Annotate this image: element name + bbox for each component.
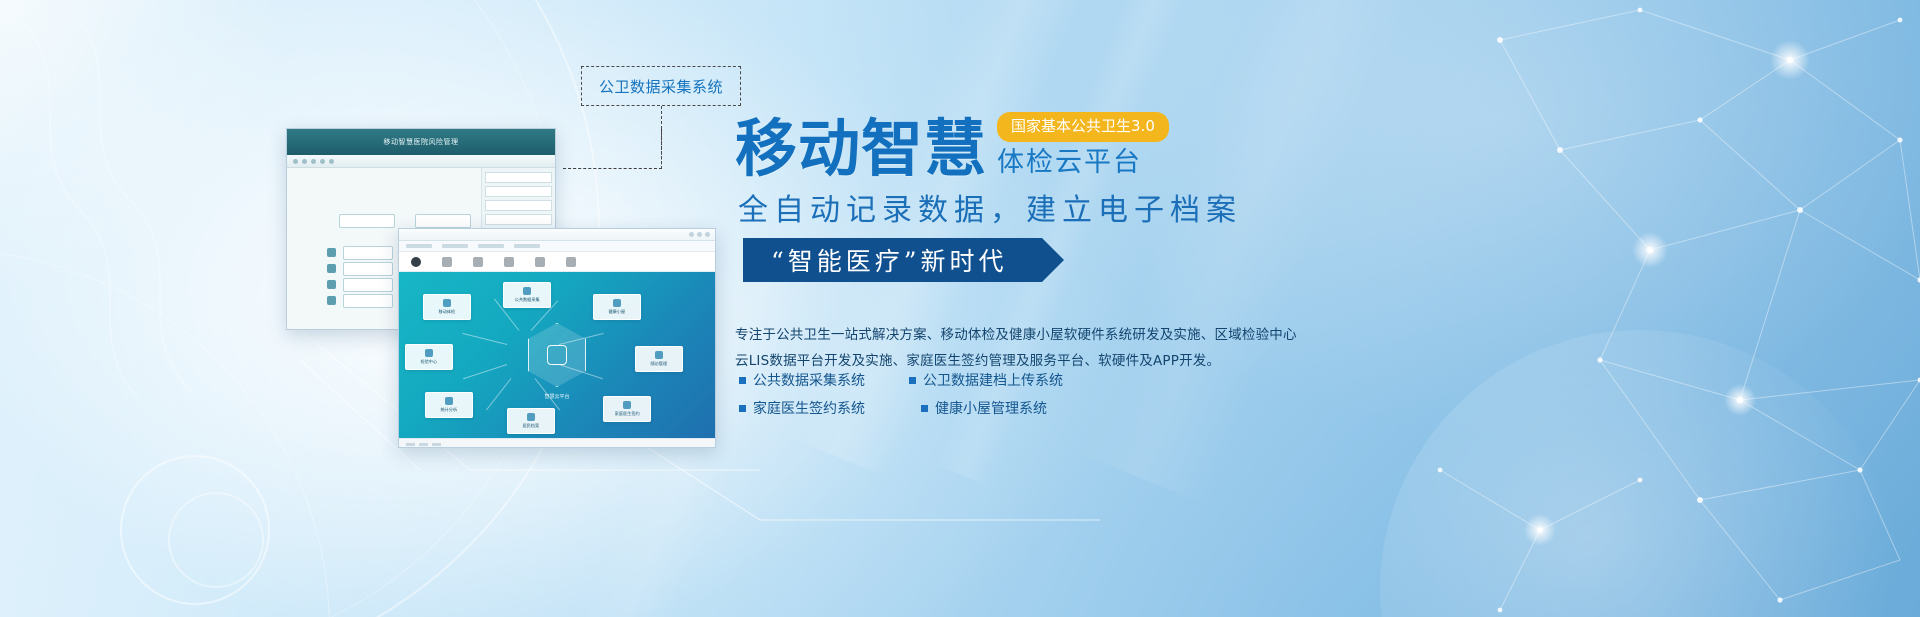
dashboard-hub: 智慧云平台 <box>528 323 586 387</box>
window-minimize-icon[interactable] <box>689 232 694 237</box>
status-badge: 国家基本公共卫生3.0 <box>997 112 1169 142</box>
product-screenshot-group: 移动智慧医院风险管理 <box>286 128 716 448</box>
back-window-node <box>343 246 393 260</box>
dashboard-card[interactable]: 健康小屋 <box>593 294 641 320</box>
arc-decoration-c <box>0 250 330 617</box>
list-item-label: 家庭医生签约系统 <box>753 398 865 418</box>
user-icon[interactable] <box>535 257 545 267</box>
list-item[interactable]: 健康小屋管理系统 <box>909 398 1063 418</box>
dashboard-card-label: 移动体检 <box>439 309 456 315</box>
dashboard-card-label: 家庭医生签约 <box>614 411 639 417</box>
bullet-square-icon <box>739 405 746 412</box>
side-panel-item[interactable] <box>485 172 552 183</box>
back-window-toolbar <box>287 155 555 168</box>
front-window-tabbar <box>399 241 715 252</box>
status-indicator <box>406 443 415 446</box>
hub-spoke <box>463 364 507 379</box>
list-icon[interactable] <box>504 257 514 267</box>
hexagon-inner-icon <box>547 345 567 365</box>
node-icon <box>327 280 336 289</box>
back-window-node <box>339 214 395 228</box>
dashboard-card-label: 居民档案 <box>523 423 540 429</box>
toolbar-dot-icon <box>329 159 334 164</box>
headline-subtitle: 体检云平台 <box>997 148 1169 178</box>
back-window-node <box>415 214 471 228</box>
front-window-tab[interactable] <box>514 244 540 248</box>
marketing-content: 移动智慧 国家基本公共卫生3.0 体检云平台 全自动记录数据，建立电子档案 “智… <box>735 0 1915 617</box>
back-window-node <box>343 262 393 276</box>
dashboard-card-label: 随访管理 <box>651 361 668 367</box>
gear-icon[interactable] <box>566 257 576 267</box>
list-item-label: 公共数据采集系统 <box>753 370 865 390</box>
callout-public-health-data-collection[interactable]: 公卫数据采集系统 <box>581 66 741 106</box>
front-window-titlebar <box>399 229 715 241</box>
back-window-title: 移动智慧医院风险管理 <box>287 129 555 155</box>
slogan-text: “智能医疗”新时代 <box>771 242 1008 278</box>
dashboard-hub-label: 智慧云平台 <box>544 393 569 400</box>
dashboard-card-label: 公共数据采集 <box>514 297 539 303</box>
front-window-dashboard: 智慧云平台 公共数据采集 健康小屋 随访管理 家庭医生签约 <box>399 272 715 438</box>
dashboard-card-label: 统计分析 <box>441 407 458 413</box>
description-line-1: 专注于公共卫生一站式解决方案、移动体检及健康小屋软硬件系统研发及实施、区域检验中… <box>735 322 1315 348</box>
front-window-iconbar <box>399 252 715 272</box>
status-indicator <box>419 443 428 446</box>
screenshot-window-front: 智慧云平台 公共数据采集 健康小屋 随访管理 家庭医生签约 <box>398 228 716 448</box>
card-icon <box>445 397 453 405</box>
description-block: 专注于公共卫生一站式解决方案、移动体检及健康小屋软硬件系统研发及实施、区域检验中… <box>735 322 1315 375</box>
headline-side-group: 国家基本公共卫生3.0 体检云平台 <box>997 112 1169 180</box>
list-item[interactable]: 家庭医生签约系统 <box>739 398 889 418</box>
dashboard-card[interactable]: 家庭医生签约 <box>603 396 651 422</box>
list-item-label: 公卫数据建档上传系统 <box>923 370 1063 390</box>
dashboard-card[interactable]: 随访管理 <box>635 346 683 372</box>
list-item[interactable]: 公共数据采集系统 <box>739 370 889 390</box>
toolbar-dot-icon <box>302 159 307 164</box>
home-icon[interactable] <box>411 257 421 267</box>
hub-spoke <box>486 378 511 410</box>
dashboard-card[interactable]: 移动体检 <box>423 294 471 320</box>
node-icon <box>327 296 336 305</box>
headline-row: 移动智慧 国家基本公共卫生3.0 体检云平台 <box>735 112 1169 180</box>
feature-list: 公共数据采集系统 公卫数据建档上传系统 家庭医生签约系统 健康小屋管理系统 <box>739 370 1063 418</box>
front-window-tab[interactable] <box>478 244 504 248</box>
list-item[interactable]: 公卫数据建档上传系统 <box>909 370 1063 390</box>
back-window-node <box>343 294 393 308</box>
callout-label: 公卫数据采集系统 <box>599 76 723 97</box>
bullet-square-icon <box>921 405 928 412</box>
chart-icon[interactable] <box>442 257 452 267</box>
dashboard-card[interactable]: 居民档案 <box>507 408 555 434</box>
page-title: 移动智慧 <box>735 118 987 180</box>
front-window-statusbar <box>399 438 715 448</box>
toolbar-dot-icon <box>293 159 298 164</box>
side-panel-item[interactable] <box>485 186 552 197</box>
card-icon <box>523 287 531 295</box>
folder-icon[interactable] <box>473 257 483 267</box>
side-panel-item[interactable] <box>485 214 552 225</box>
headline-secondary: 全自动记录数据，建立电子档案 <box>738 185 1242 229</box>
toolbar-dot-icon <box>320 159 325 164</box>
window-maximize-icon[interactable] <box>697 232 702 237</box>
card-icon <box>425 349 433 357</box>
ring-decoration-inner <box>168 492 264 588</box>
bullet-square-icon <box>739 377 746 384</box>
dashboard-card[interactable]: 检验中心 <box>405 344 453 370</box>
dashboard-card[interactable]: 公共数据采集 <box>503 282 551 308</box>
hub-spoke <box>462 333 507 345</box>
node-icon <box>327 248 336 257</box>
hexagon-icon <box>528 323 586 387</box>
slogan-ribbon: “智能医疗”新时代 <box>743 238 1042 282</box>
card-icon <box>623 401 631 409</box>
card-icon <box>613 299 621 307</box>
window-close-icon[interactable] <box>705 232 710 237</box>
bullet-square-icon <box>909 377 916 384</box>
dashboard-card[interactable]: 统计分析 <box>425 392 473 418</box>
card-icon <box>655 351 663 359</box>
dashboard-card-label: 检验中心 <box>421 359 438 365</box>
promo-banner: 公卫数据采集系统 移动智慧医院风险管理 <box>0 0 1920 617</box>
dashboard-card-label: 健康小屋 <box>609 309 626 315</box>
front-window-tab[interactable] <box>442 244 468 248</box>
card-icon <box>443 299 451 307</box>
toolbar-dot-icon <box>311 159 316 164</box>
status-indicator <box>432 443 441 446</box>
list-item-label: 健康小屋管理系统 <box>935 398 1047 418</box>
card-icon <box>527 413 535 421</box>
glow-blob-left <box>0 0 290 310</box>
back-window-node <box>343 278 393 292</box>
node-icon <box>327 264 336 273</box>
front-window-tab[interactable] <box>406 244 432 248</box>
ring-decoration-outer <box>120 455 270 605</box>
side-panel-item[interactable] <box>485 200 552 211</box>
